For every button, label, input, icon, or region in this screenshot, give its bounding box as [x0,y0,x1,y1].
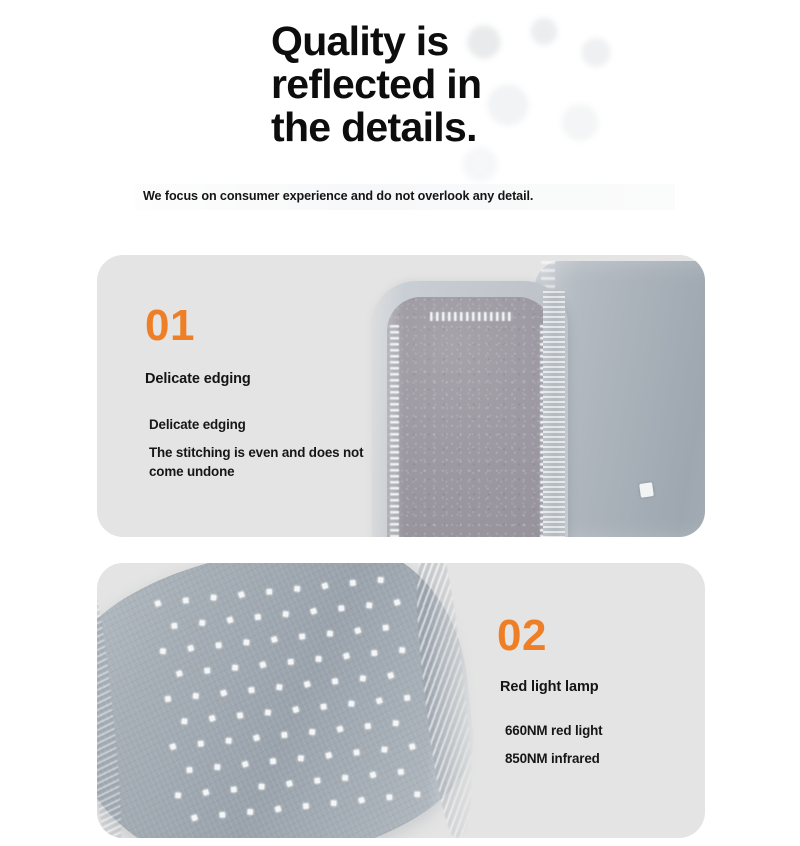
led-lamp [408,742,416,750]
stitching-top [430,312,513,321]
led-lamp [258,783,265,790]
pad-front-panel [372,281,568,537]
led-lamp [271,636,279,644]
led-lamp [169,743,177,751]
led-lamp [230,786,237,793]
feature-card-delicate-edging: 01 Delicate edging Delicate edging The s… [97,255,705,537]
page-subtitle: We focus on consumer experience and do n… [143,189,533,203]
led-lamp [276,684,283,691]
feature-number-01: 01 [145,303,395,349]
led-lamp [343,652,351,660]
led-lamp [281,732,288,739]
feature-card-1-text: 01 Delicate edging Delicate edging The s… [145,303,395,481]
feature-card-red-light-lamp: 02 Red light lamp 660NM red light 850NM … [97,563,705,838]
led-lamp [371,650,378,657]
led-lamp [325,751,333,759]
led-lamp [193,693,200,700]
led-lamp [342,774,349,781]
led-lamp [360,675,367,682]
led-lamp [393,599,401,607]
page-title-line-1: Quality is [271,20,671,63]
led-lamp [175,792,182,799]
led-lamp [191,814,199,822]
page-title: Quality is reflected in the details. [271,20,671,149]
led-lamp [214,763,221,770]
led-lamp [202,788,210,796]
led-lamp [286,780,294,788]
feature-detail-02-2: 850NM infrared [505,749,705,768]
led-lamp [321,582,329,590]
led-lamp [154,600,162,608]
page-title-line-2: reflected in [271,63,671,106]
feature-title-02: Red light lamp [500,679,705,695]
feature-card-2-text: 02 Red light lamp 660NM red light 850NM … [497,613,705,768]
led-lamp [404,695,411,702]
led-lamp [294,585,301,592]
led-lamp [392,720,399,727]
led-lamp [348,701,355,708]
pad-care-tag [639,482,654,498]
led-lamp [160,648,167,655]
led-lamp [265,710,272,717]
led-lamp [338,605,345,612]
led-lamp [387,672,395,680]
led-lamp [243,639,250,646]
led-lamp [182,597,189,604]
led-lamp [259,661,267,669]
led-lamp [369,771,377,779]
led-lamp [204,668,211,675]
led-lamp [274,805,282,813]
page-title-line-3: the details. [271,106,671,149]
led-lamp [382,625,389,632]
led-lamp [187,645,195,653]
feature-detail-02-1: 660NM red light [505,721,705,740]
pad-seam-left [97,578,129,838]
led-lamp [208,715,216,723]
led-lamp [270,758,277,765]
led-lamp [210,594,217,601]
led-lamp [310,607,318,615]
led-lamp [366,602,373,609]
feature-details-01: Delicate edging The stitching is even an… [149,415,395,481]
led-lamp [309,729,316,736]
led-lamp [386,794,393,801]
led-lamp [181,718,188,725]
led-lamp [255,614,262,621]
led-lamp-grid [155,575,430,838]
led-lamp [303,681,311,689]
feature-details-02: 660NM red light 850NM infrared [505,721,705,768]
led-lamp [354,627,362,635]
pad-edge-binding [543,291,565,537]
feature-title-01: Delicate edging [145,371,395,387]
led-lamp [253,735,261,743]
led-lamp [241,760,249,768]
led-lamp [314,777,321,784]
led-lamp [165,696,172,703]
led-lamp [176,670,184,678]
led-lamp [298,755,305,762]
led-lamp [381,746,388,753]
led-lamp [353,749,360,756]
led-lamp [330,800,337,807]
led-lamp [171,623,178,630]
led-lamp [238,591,246,599]
red-light-lamp-pad-photo [97,563,497,838]
led-lamp [350,580,357,587]
led-lamp [220,690,228,698]
led-lamp [266,588,273,595]
feature-detail-01-1: Delicate edging [149,415,395,434]
led-lamp [303,802,310,809]
led-lamp [292,706,300,714]
led-lamp [282,611,289,618]
led-lamp [377,577,384,584]
led-lamp [365,723,372,730]
led-lamp [232,665,239,672]
page-header: Quality is reflected in the details. We … [0,0,800,240]
led-lamp [398,768,405,775]
feature-number-02: 02 [497,613,705,659]
led-lamp [287,659,294,666]
led-lamp [219,811,226,818]
led-lamp [327,630,334,637]
led-lamp [320,704,327,711]
led-lamp [399,647,406,654]
led-lamp [226,616,234,624]
led-lamp [336,726,344,734]
led-lamp [215,642,222,649]
led-lamp [376,697,384,705]
led-lamp [332,678,339,685]
led-lamp [248,687,255,694]
led-lamp [237,713,244,720]
pad-suede-surface [387,297,552,537]
led-lamp [225,738,232,745]
led-lamp [315,656,322,663]
led-lamp [186,766,193,773]
led-lamp [358,796,366,804]
led-lamp [299,633,306,640]
led-lamp [199,620,206,627]
led-lamp [198,741,205,748]
led-lamp [247,808,254,815]
feature-detail-01-2: The stitching is even and does not come … [149,443,395,481]
led-lamp [414,791,421,798]
